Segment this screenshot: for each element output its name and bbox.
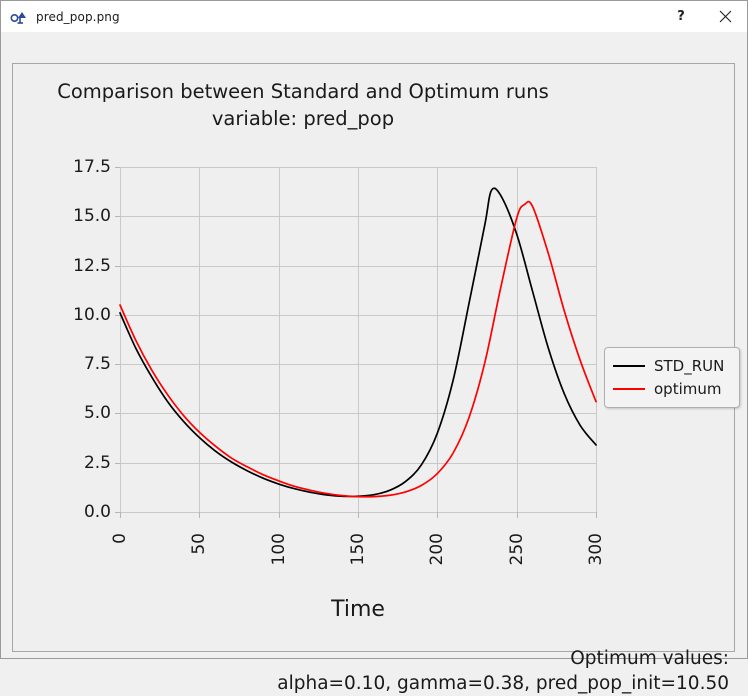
close-icon xyxy=(719,10,732,23)
legend-item-std-run[interactable]: STD_RUN xyxy=(613,354,731,377)
y-tick-label: 17.5 xyxy=(73,157,111,177)
window-titlebar: pred_pop.png ? xyxy=(1,1,747,32)
x-axis-label: Time xyxy=(120,597,596,622)
chart-title: Comparison between Standard and Optimum … xyxy=(13,78,593,132)
legend-label-std-run: STD_RUN xyxy=(654,357,724,375)
window-title: pred_pop.png xyxy=(36,10,120,24)
x-tick-mark xyxy=(120,512,121,518)
x-tick-label: 150 xyxy=(348,533,368,565)
x-tick-mark xyxy=(279,512,280,518)
matplotlib-figure: Comparison between Standard and Optimum … xyxy=(13,64,734,651)
series-line-std-run xyxy=(120,188,596,496)
optimum-values-annotation: Optimum values: alpha=0.10, gamma=0.38, … xyxy=(13,646,729,696)
x-tick-label: 100 xyxy=(269,533,289,565)
gridline-vertical xyxy=(596,167,597,512)
legend-swatch-std-run xyxy=(613,365,645,367)
titlebar-buttons: ? xyxy=(659,1,747,32)
y-tick-label: 7.5 xyxy=(84,354,111,374)
x-tick-label: 50 xyxy=(189,533,209,555)
plot-curves xyxy=(120,167,596,512)
x-tick-mark xyxy=(437,512,438,518)
y-tick-label: 12.5 xyxy=(73,256,111,276)
chart-legend: STD_RUN optimum xyxy=(604,347,740,408)
x-tick-label: 200 xyxy=(427,533,447,565)
plot-area: 0.02.55.07.510.012.515.017.5050100150200… xyxy=(120,167,596,512)
image-panel: Comparison between Standard and Optimum … xyxy=(12,63,735,652)
x-tick-mark xyxy=(199,512,200,518)
y-tick-label: 10.0 xyxy=(73,305,111,325)
close-button[interactable] xyxy=(703,1,747,32)
legend-item-optimum[interactable]: optimum xyxy=(613,377,731,400)
y-tick-label: 15.0 xyxy=(73,206,111,226)
y-tick-label: 5.0 xyxy=(84,403,111,423)
image-viewer-window: pred_pop.png ? Comparison between Standa… xyxy=(0,0,748,659)
legend-label-optimum: optimum xyxy=(654,380,721,398)
x-tick-label: 250 xyxy=(507,533,527,565)
series-line-optimum xyxy=(120,202,596,497)
x-tick-label: 0 xyxy=(110,533,130,544)
image-viewer-icon xyxy=(9,7,29,27)
x-tick-mark xyxy=(358,512,359,518)
y-tick-label: 0.0 xyxy=(84,502,111,522)
x-tick-mark xyxy=(517,512,518,518)
legend-swatch-optimum xyxy=(613,388,645,390)
x-tick-label: 300 xyxy=(586,533,606,565)
help-button[interactable]: ? xyxy=(659,1,703,32)
y-tick-label: 2.5 xyxy=(84,453,111,473)
x-tick-mark xyxy=(596,512,597,518)
window-content: Comparison between Standard and Optimum … xyxy=(1,32,747,658)
